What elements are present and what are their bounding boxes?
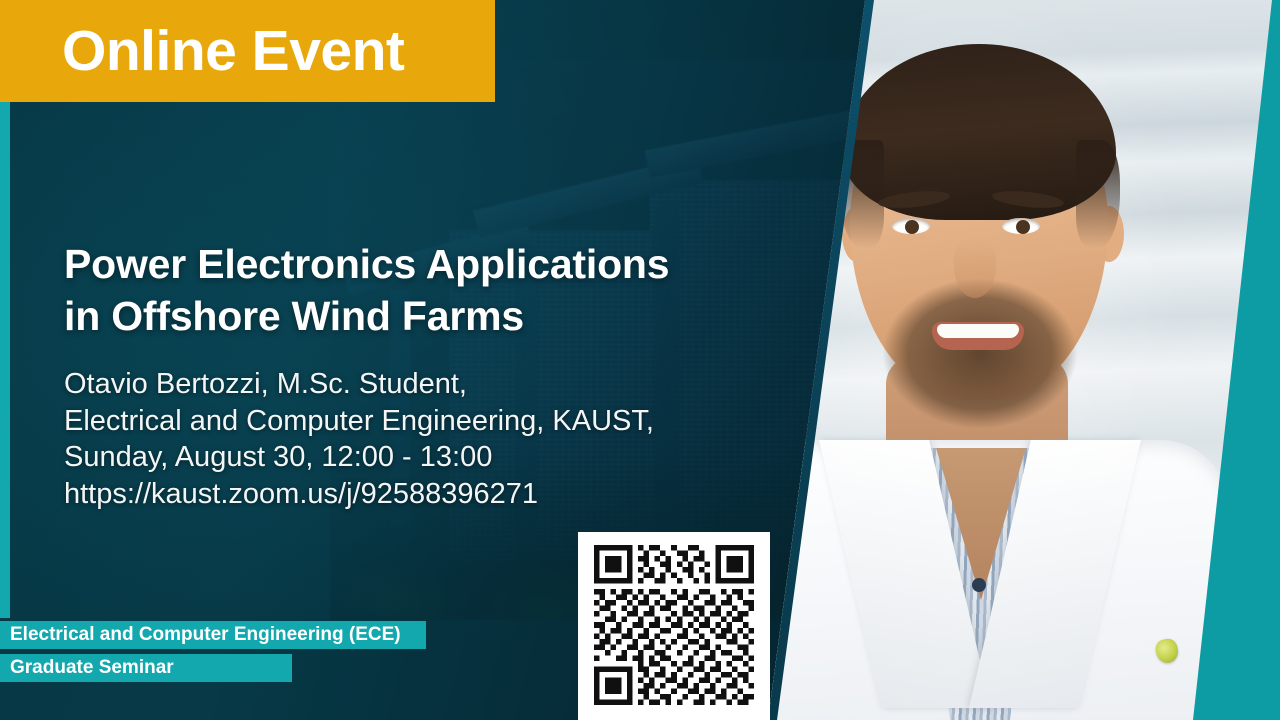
- online-event-label: Online Event: [0, 23, 404, 80]
- title-line-1: Power Electronics Applications: [64, 238, 824, 290]
- hair-side-left: [840, 140, 884, 248]
- department-label: Electrical and Computer Engineering (ECE…: [10, 624, 401, 646]
- nose: [954, 236, 996, 298]
- page-title: Power Electronics Applications in Offsho…: [64, 238, 824, 343]
- seminar-label-bar: Graduate Seminar: [0, 654, 292, 682]
- mouth: [932, 322, 1024, 350]
- pupil-right: [1016, 220, 1030, 234]
- teeth: [937, 324, 1019, 338]
- zoom-link[interactable]: https://kaust.zoom.us/j/92588396271: [64, 476, 764, 513]
- event-datetime: Sunday, August 30, 12:00 - 13:00: [64, 439, 764, 476]
- event-poster: Online Event Power Electronics Applicati…: [0, 0, 1280, 720]
- speaker-name: Otavio Bertozzi, M.Sc. Student,: [64, 366, 764, 403]
- left-accent-strip: [0, 102, 10, 618]
- qr-code-icon[interactable]: [594, 545, 754, 705]
- online-event-banner: Online Event: [0, 0, 495, 102]
- pupil-left: [905, 220, 919, 234]
- speaker-affiliation: Electrical and Computer Engineering, KAU…: [64, 403, 764, 440]
- title-line-2: in Offshore Wind Farms: [64, 290, 824, 342]
- shirt-button: [972, 578, 986, 592]
- qr-code-panel[interactable]: [578, 532, 770, 720]
- hair-side-right: [1076, 140, 1120, 248]
- department-label-bar: Electrical and Computer Engineering (ECE…: [0, 621, 426, 649]
- event-details: Otavio Bertozzi, M.Sc. Student, Electric…: [64, 366, 764, 512]
- seminar-label: Graduate Seminar: [10, 657, 174, 679]
